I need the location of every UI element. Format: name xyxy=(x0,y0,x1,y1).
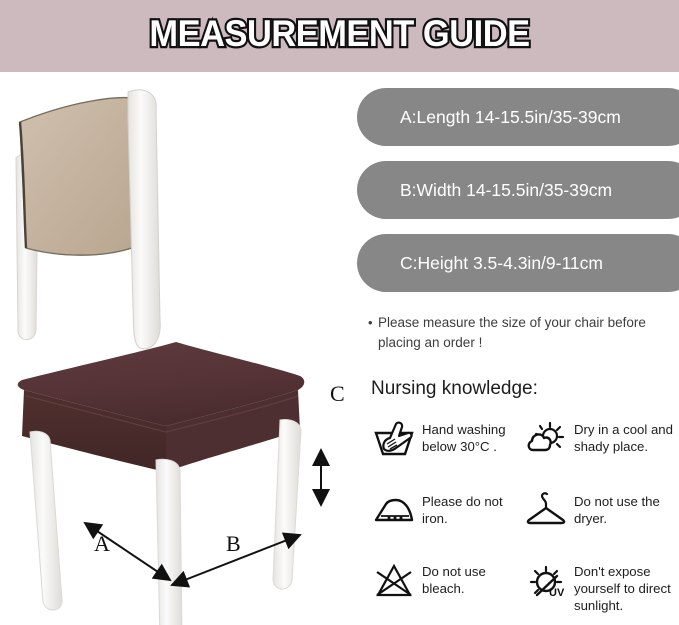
hand-wash-icon xyxy=(371,418,417,460)
measure-note: • Please measure the size of your chair … xyxy=(378,313,668,352)
no-iron-icon xyxy=(371,490,417,532)
measurement-pill-width[interactable]: B:Width 14-15.5in/35-39cm xyxy=(357,161,679,219)
measure-note-line2: placing an order ! xyxy=(378,335,482,350)
svg-text:UV: UV xyxy=(549,587,565,599)
page-title: MEASUREMENT GUIDE xyxy=(24,13,655,55)
care-item-no-uv-text: Don't expose yourself to direct sunlight… xyxy=(574,560,671,614)
dimension-label-b: B xyxy=(226,531,241,557)
bullet-icon: • xyxy=(368,316,373,329)
care-item-no-uv: UV Don't expose yourself to direct sunli… xyxy=(523,560,675,622)
care-item-no-dryer: Do not use the dryer. xyxy=(523,490,675,560)
care-item-no-bleach-text: Do not use bleach. xyxy=(422,560,486,597)
chair-illustration xyxy=(0,80,358,625)
care-item-no-iron: Please do not iron. xyxy=(371,490,523,560)
care-item-no-iron-text: Please do not iron. xyxy=(422,490,503,527)
measurement-pill-width-label: B:Width 14-15.5in/35-39cm xyxy=(400,180,612,201)
nursing-knowledge-title: Nursing knowledge: xyxy=(371,378,538,400)
measurement-pill-length-label: A:Length 14-15.5in/35-39cm xyxy=(400,107,621,128)
care-instructions-grid: Hand washing below 30°C . Dry in a cool … xyxy=(371,418,676,622)
care-item-no-bleach: Do not use bleach. xyxy=(371,560,523,622)
care-item-dry-shade-text: Dry in a cool and shady place. xyxy=(574,418,673,455)
measurement-pill-length[interactable]: A:Length 14-15.5in/35-39cm xyxy=(357,88,679,146)
measurement-guide-page: MEASUREMENT GUIDE xyxy=(0,0,679,625)
no-uv-sunlight-icon: UV xyxy=(523,560,569,602)
dimension-label-c: C xyxy=(330,381,345,407)
sun-cloud-icon xyxy=(523,418,569,460)
care-item-hand-wash-text: Hand washing below 30°C . xyxy=(422,418,506,455)
measurement-pill-height[interactable]: C:Height 3.5-4.3in/9-11cm xyxy=(357,234,679,292)
measurement-pill-height-label: C:Height 3.5-4.3in/9-11cm xyxy=(400,253,603,274)
no-dryer-hanger-icon xyxy=(523,490,569,532)
measure-note-line1: Please measure the size of your chair be… xyxy=(378,315,646,330)
dimension-label-a: A xyxy=(94,531,110,557)
no-bleach-icon xyxy=(371,560,417,602)
care-item-dry-shade: Dry in a cool and shady place. xyxy=(523,418,675,490)
care-item-no-dryer-text: Do not use the dryer. xyxy=(574,490,660,527)
care-item-hand-wash: Hand washing below 30°C . xyxy=(371,418,523,490)
